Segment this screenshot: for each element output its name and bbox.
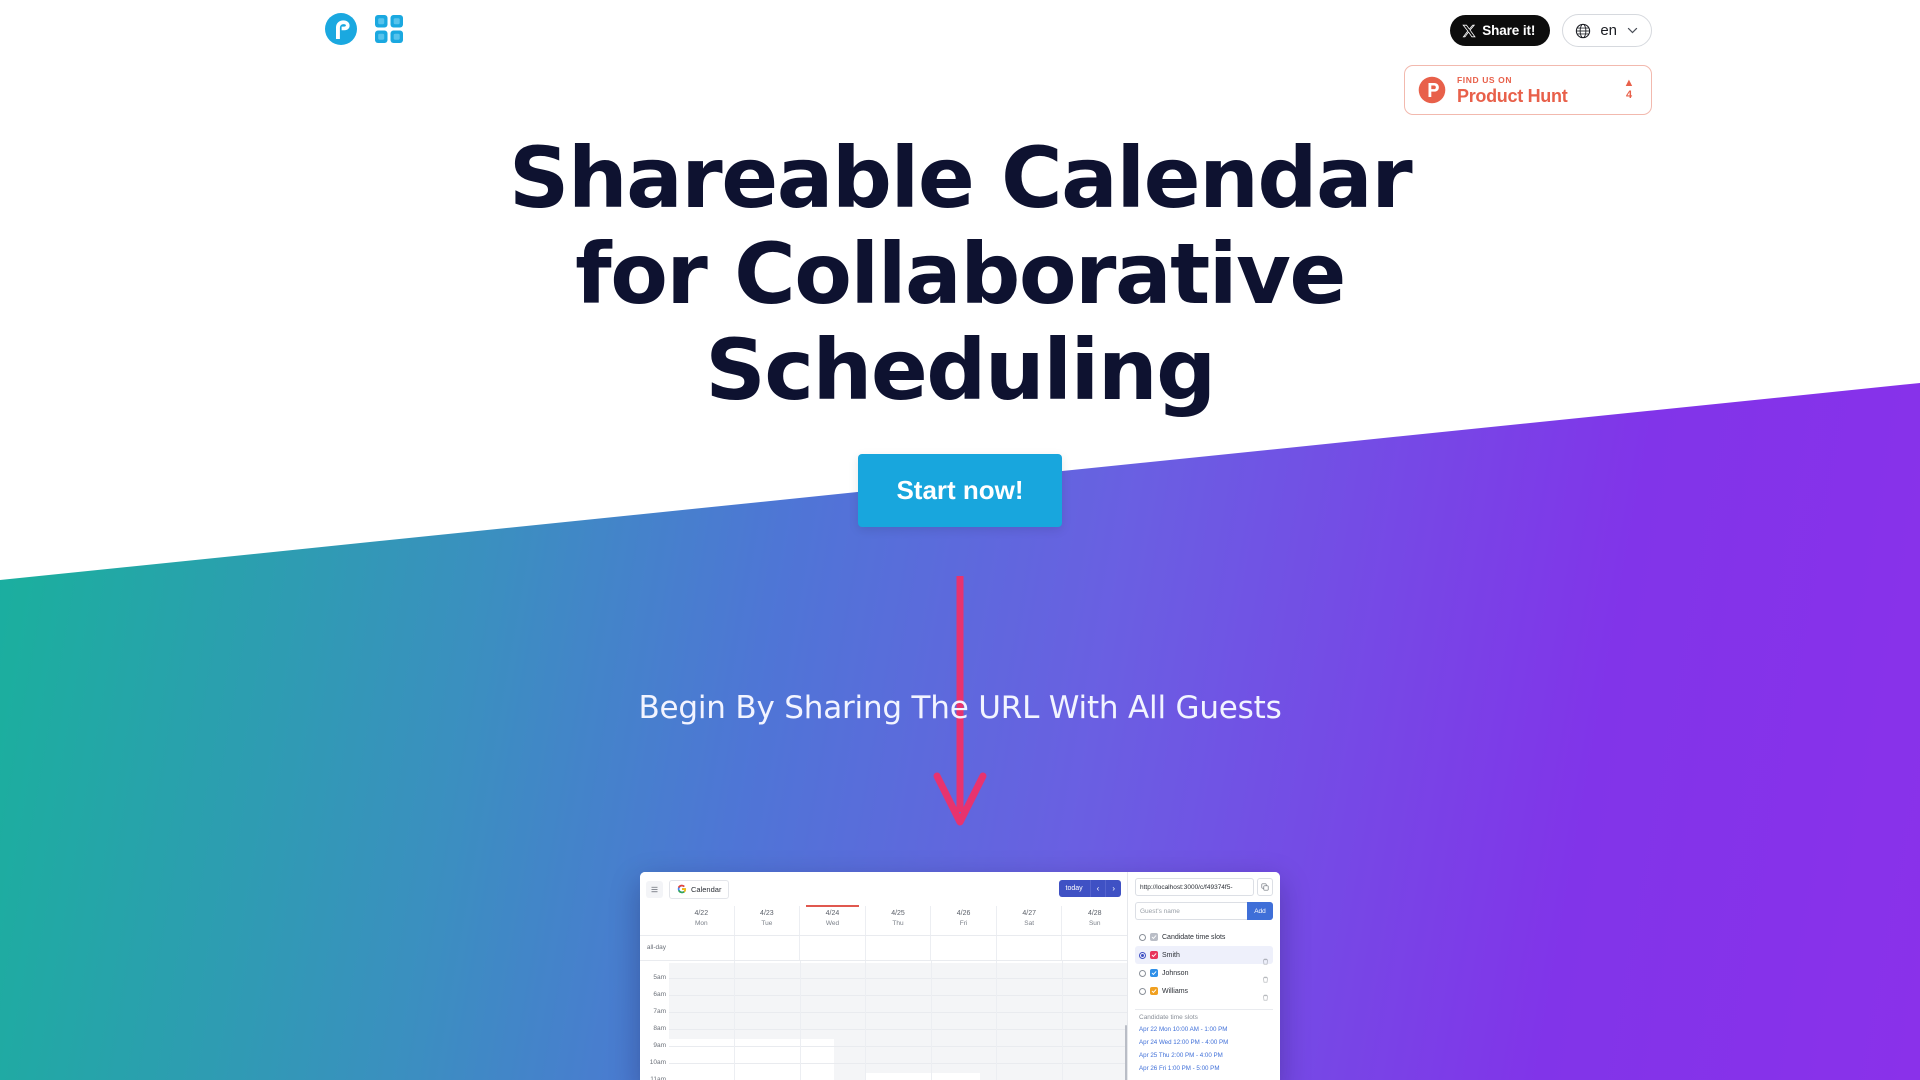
google-calendar-chip[interactable]: Calendar	[669, 880, 729, 899]
upvote-triangle-icon: ▲	[1619, 78, 1639, 89]
candidate-slot-item[interactable]: Apr 26 Fri 1:00 PM - 5:00 PM	[1139, 1065, 1273, 1073]
copy-icon	[1261, 883, 1269, 891]
share-url-row: http://localhost:3000/c/f49374f5-	[1135, 878, 1273, 896]
day-of-week: Tue	[735, 919, 800, 928]
candidate-slot-item[interactable]: Apr 25 Thu 2:00 PM - 4:00 PM	[1139, 1052, 1273, 1060]
grid-day-line	[931, 961, 932, 1080]
calendar-day-header[interactable]: 4/27Sat	[996, 906, 1062, 935]
copy-url-button[interactable]	[1257, 878, 1273, 896]
grid-day-line	[1062, 961, 1063, 1080]
guest-radio[interactable]	[1139, 988, 1146, 995]
hamburger-icon[interactable]	[646, 881, 663, 898]
guest-name: Candidate time slots	[1162, 934, 1269, 941]
product-hunt-kicker: FIND US ON	[1457, 75, 1619, 86]
grid-day-line	[996, 961, 997, 1080]
day-date: 4/23	[735, 909, 800, 919]
candidate-slot-item[interactable]: Apr 22 Mon 10:00 AM - 1:00 PM	[1139, 1026, 1273, 1034]
time-label: 5am	[653, 974, 666, 982]
day-of-week: Thu	[866, 919, 931, 928]
guest-color-swatch[interactable]	[1150, 951, 1158, 959]
guest-list-item[interactable]: Johnson	[1135, 964, 1273, 982]
product-hunt-icon	[1418, 76, 1446, 104]
time-label: 7am	[653, 1008, 666, 1016]
time-label: 8am	[653, 1025, 666, 1033]
share-button-label: Share it!	[1482, 23, 1535, 38]
allday-cell[interactable]	[996, 936, 1062, 960]
calendar-allday-row: all-day	[640, 936, 1127, 961]
grid-hour-line	[669, 1046, 1127, 1047]
grid-day-line	[734, 961, 735, 1080]
day-of-week: Sat	[997, 919, 1062, 928]
time-label: 9am	[653, 1042, 666, 1050]
calendar-day-header[interactable]: 4/25Thu	[865, 906, 931, 935]
share-url-field[interactable]: http://localhost:3000/c/f49374f5-	[1135, 878, 1254, 896]
apps-grid-icon	[374, 14, 404, 44]
day-date: 4/25	[866, 909, 931, 919]
guest-list-item[interactable]: Smith	[1135, 946, 1273, 964]
delete-guest-icon[interactable]	[1262, 952, 1269, 959]
guest-name-input[interactable]: Guest's name	[1135, 902, 1247, 920]
day-date: 4/28	[1062, 909, 1127, 919]
guest-list-item[interactable]: Williams	[1135, 982, 1273, 1000]
calendar-grid-body[interactable]	[669, 961, 1127, 1080]
guest-name: Johnson	[1162, 970, 1258, 977]
x-twitter-icon	[1462, 24, 1476, 38]
header-actions: Share it! en	[1450, 14, 1652, 47]
today-button[interactable]: today	[1059, 880, 1091, 897]
guest-radio[interactable]	[1139, 952, 1146, 959]
delete-guest-icon[interactable]	[1262, 970, 1269, 977]
calendar-day-headers: 4/22Mon4/23Tue4/24Wed4/25Thu4/26Fri4/27S…	[640, 906, 1127, 936]
day-date: 4/22	[669, 909, 734, 919]
product-hunt-badge[interactable]: FIND US ON Product Hunt ▲ 4	[1404, 65, 1652, 115]
site-header: Share it! en	[0, 0, 1920, 120]
guest-radio[interactable]	[1139, 970, 1146, 977]
calendar-chip-label: Calendar	[691, 885, 721, 894]
grid-hour-line	[669, 978, 1127, 979]
rebrandly-circle-swirl-logo-icon	[324, 12, 358, 46]
next-week-button[interactable]: ›	[1106, 880, 1121, 897]
allday-cell[interactable]	[734, 936, 800, 960]
delete-guest-icon[interactable]	[1262, 988, 1269, 995]
guest-name: Smith	[1162, 952, 1258, 959]
grid-day-line	[800, 961, 801, 1080]
candidate-slots-list: Apr 22 Mon 10:00 AM - 1:00 PMApr 24 Wed …	[1135, 1026, 1273, 1073]
brand-logo[interactable]	[324, 12, 404, 46]
calendar-panel: Calendar today ‹ › 4/22Mon4/23Tue4/24Wed…	[640, 872, 1128, 1080]
page-title: Shareable Calendar for Collaborative Sch…	[0, 130, 1920, 418]
calendar-nav-group: today ‹ ›	[1059, 880, 1121, 897]
heading-line-1: Shareable Calendar	[509, 129, 1411, 227]
time-label: 10am	[650, 1059, 666, 1067]
calendar-day-header[interactable]: 4/22Mon	[669, 906, 734, 935]
grid-hour-line	[669, 995, 1127, 996]
product-hunt-upvote[interactable]: ▲ 4	[1619, 78, 1639, 102]
time-label: 6am	[653, 991, 666, 999]
day-date: 4/27	[997, 909, 1062, 919]
allday-cell[interactable]	[865, 936, 931, 960]
calendar-day-header[interactable]: 4/23Tue	[734, 906, 800, 935]
app-preview-screenshot: Calendar today ‹ › 4/22Mon4/23Tue4/24Wed…	[640, 872, 1280, 1080]
add-guest-button[interactable]: Add	[1247, 902, 1273, 920]
allday-cell[interactable]	[930, 936, 996, 960]
prev-week-button[interactable]: ‹	[1091, 880, 1107, 897]
grid-hour-line	[669, 1012, 1127, 1013]
guest-color-swatch[interactable]	[1150, 987, 1158, 995]
sidebar-divider	[1135, 1009, 1273, 1010]
calendar-day-header[interactable]: 4/24Wed	[799, 906, 865, 935]
calendar-topbar: Calendar today ‹ ›	[640, 872, 1127, 906]
language-value: en	[1600, 22, 1617, 39]
heading-line-2: for Collaborative	[575, 225, 1345, 323]
start-now-button[interactable]: Start now!	[858, 454, 1061, 527]
calendar-day-header[interactable]: 4/28Sun	[1061, 906, 1127, 935]
chevron-down-icon	[1626, 24, 1639, 37]
allday-label: all-day	[640, 936, 669, 960]
grid-hour-line	[669, 1063, 1127, 1064]
share-button[interactable]: Share it!	[1450, 15, 1550, 46]
globe-icon	[1575, 23, 1591, 39]
allday-cell[interactable]	[669, 936, 734, 960]
section-subheading: Begin By Sharing The URL With All Guests	[0, 690, 1920, 726]
guest-list-item[interactable]: Candidate time slots	[1135, 928, 1273, 946]
product-hunt-text: FIND US ON Product Hunt	[1457, 75, 1619, 106]
day-of-week: Mon	[669, 919, 734, 928]
google-calendar-icon	[677, 884, 687, 894]
calendar-time-column: 5am6am7am8am9am10am11am	[640, 961, 669, 1080]
day-of-week: Fri	[931, 919, 996, 928]
language-select[interactable]: en	[1562, 14, 1652, 47]
allday-cell[interactable]	[799, 936, 865, 960]
day-date: 4/26	[931, 909, 996, 919]
share-sidebar: http://localhost:3000/c/f49374f5- Guest'…	[1128, 872, 1280, 1080]
allday-cell[interactable]	[1061, 936, 1127, 960]
candidate-slots-title: Candidate time slots	[1139, 1014, 1273, 1021]
guest-name: Williams	[1162, 988, 1258, 995]
guest-color-swatch[interactable]	[1150, 933, 1158, 941]
calendar-scrollbar[interactable]	[1125, 1025, 1128, 1080]
grid-day-line	[865, 961, 866, 1080]
page-root: Share it! en	[0, 0, 1920, 1080]
calendar-grid[interactable]: 5am6am7am8am9am10am11am	[640, 961, 1127, 1080]
guest-list: Candidate time slotsSmithJohnsonWilliams	[1135, 928, 1273, 1000]
guest-color-swatch[interactable]	[1150, 969, 1158, 977]
day-of-week: Sun	[1062, 919, 1127, 928]
guest-radio[interactable]	[1139, 934, 1146, 941]
cta-container: Start now!	[0, 454, 1920, 527]
day-date: 4/24	[800, 909, 865, 919]
product-hunt-name: Product Hunt	[1457, 86, 1619, 106]
heading-line-3: Scheduling	[705, 321, 1215, 419]
upvote-count: 4	[1619, 89, 1639, 102]
calendar-day-header[interactable]: 4/26Fri	[930, 906, 996, 935]
time-label: 11am	[650, 1076, 666, 1080]
day-of-week: Wed	[800, 919, 865, 928]
add-guest-row: Guest's name Add	[1135, 902, 1273, 920]
grid-hour-line	[669, 1029, 1127, 1030]
candidate-slot-item[interactable]: Apr 24 Wed 12:00 PM - 4:00 PM	[1139, 1039, 1273, 1047]
